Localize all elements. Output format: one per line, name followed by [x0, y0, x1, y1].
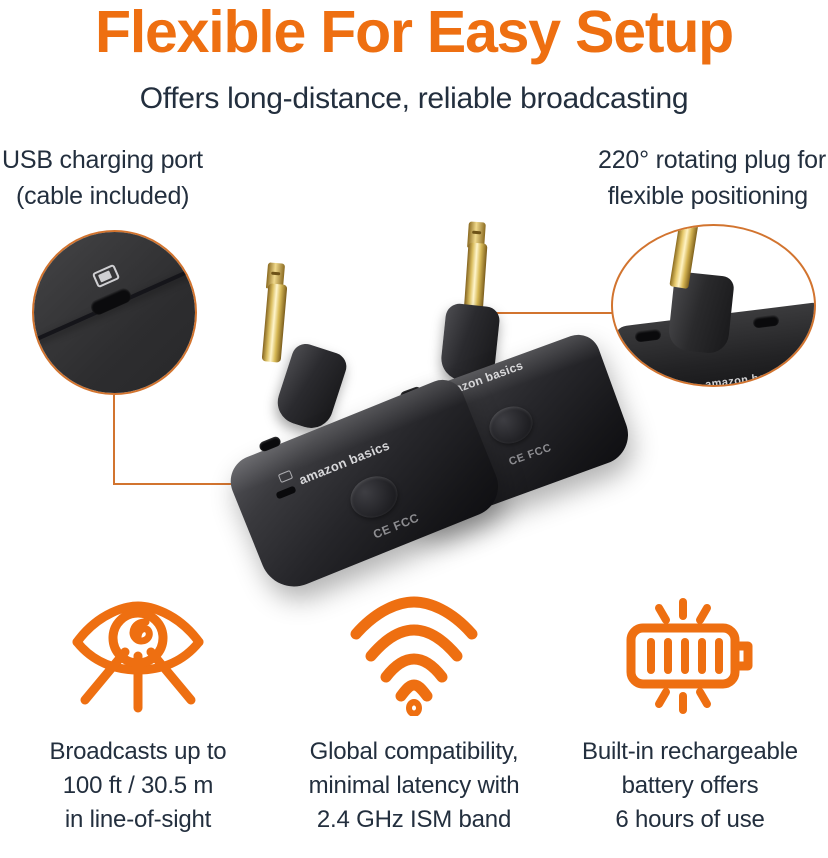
plug-shaft-front: [262, 283, 288, 362]
leader-line-usb-vertical: [113, 395, 115, 485]
magnifier-rotating-plug: amazon basics: [611, 224, 816, 387]
feature-battery: Built-in rechargeable battery offers 6 h…: [552, 588, 828, 858]
eye-line-of-sight-icon: [63, 588, 213, 723]
feature3-line3: 6 hours of use: [582, 803, 798, 837]
page-headline: Flexible For Easy Setup: [0, 2, 828, 62]
callout-left-line2: (cable included): [2, 179, 402, 215]
feature2-line2: minimal latency with: [309, 769, 520, 803]
feature-global-compatibility: Global compatibility, minimal latency wi…: [276, 588, 552, 858]
feature2-line1: Global compatibility,: [309, 735, 520, 769]
wifi-signal-icon: [339, 588, 489, 723]
feature-line-of-sight: Broadcasts up to 100 ft / 30.5 m in line…: [0, 588, 276, 858]
callout-right-line2: flexible positioning: [406, 179, 826, 215]
feature1-line3: in line-of-sight: [50, 803, 227, 837]
callout-left-line1: USB charging port: [2, 146, 203, 174]
feature1-line1: Broadcasts up to: [50, 735, 227, 769]
callout-label-usb-port: USB charging port (cable included): [2, 143, 402, 214]
unit-top-highlight-front: [223, 373, 466, 495]
feature-row: Broadcasts up to 100 ft / 30.5 m in line…: [0, 588, 828, 858]
feature1-line2: 100 ft / 30.5 m: [50, 769, 227, 803]
page-subheadline: Offers long-distance, reliable broadcast…: [0, 82, 828, 115]
feature-text-line-of-sight: Broadcasts up to 100 ft / 30.5 m in line…: [50, 723, 227, 837]
magnifier-usb-port: [32, 230, 197, 395]
feature3-line2: battery offers: [582, 769, 798, 803]
callout-right-line1: 220° rotating plug for: [598, 146, 826, 174]
infographic-page: Flexible For Easy Setup Offers long-dist…: [0, 0, 828, 857]
feature-text-battery: Built-in rechargeable battery offers 6 h…: [582, 723, 798, 837]
feature2-line3: 2.4 GHz ISM band: [309, 803, 520, 837]
feature-text-global-compatibility: Global compatibility, minimal latency wi…: [309, 723, 520, 837]
usb-closeup-upper-shell: [32, 230, 197, 395]
feature3-line1: Built-in rechargeable: [582, 735, 798, 769]
product-scene: amazon basics CE FCC amazon basics CE FC…: [0, 225, 828, 585]
callout-label-rotating-plug: 220° rotating plug for flexible position…: [406, 143, 826, 214]
battery-charging-icon: [615, 588, 765, 723]
